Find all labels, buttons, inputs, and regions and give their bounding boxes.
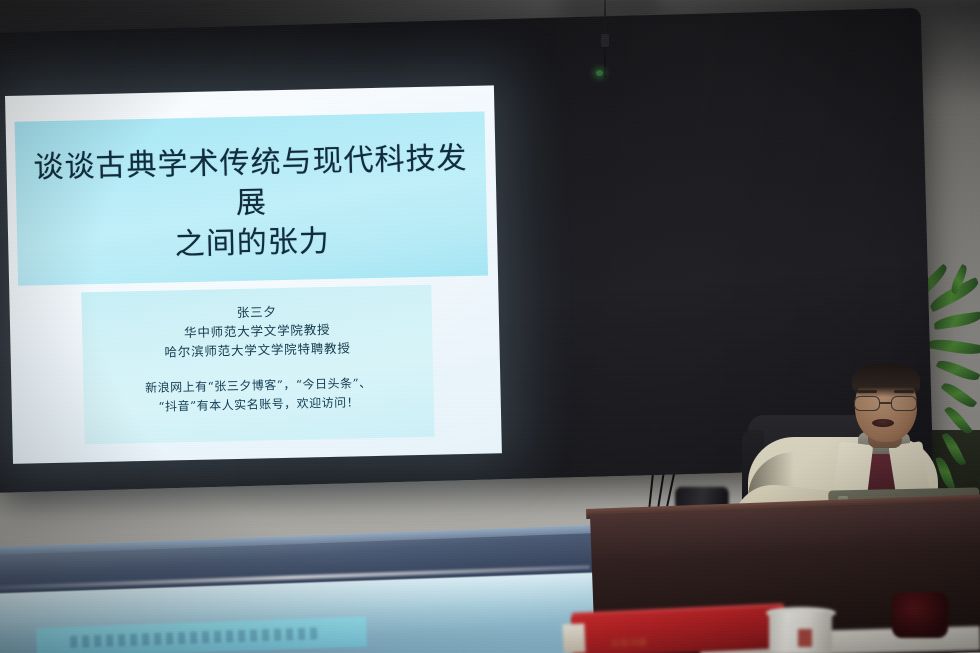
power-led-icon [596, 70, 603, 76]
projected-slide: 谈谈古典学术传统与现代科技发展 之间的张力 张三夕 华中师范大学文学院教授 哈尔… [5, 85, 502, 464]
screenshot-scene: 谈谈古典学术传统与现代科技发展 之间的张力 张三夕 华中师范大学文学院教授 哈尔… [0, 0, 980, 653]
slide-title-box: 谈谈古典学术传统与现代科技发展 之间的张力 [15, 112, 488, 286]
eyeglass-lens-left [854, 396, 880, 411]
red-book-pages [562, 624, 585, 653]
red-book-title: 红色书籍 [612, 637, 648, 649]
speaker-mouth [872, 419, 894, 427]
slide-title: 谈谈古典学术传统与现代科技发展 之间的张力 [20, 139, 483, 269]
foreground-cup-logo-icon [798, 629, 812, 647]
speaker-affiliation-2: 哈尔滨师范大学文学院特聘教授 [164, 339, 351, 362]
slide-title-line-1: 谈谈古典学术传统与现代科技发展 [20, 139, 482, 229]
dark-glass-object [892, 592, 948, 638]
speaker-brow-right [894, 390, 914, 393]
eyeglass-lens-right [891, 396, 917, 411]
slide-subtitle-box: 张三夕 华中师范大学文学院教授 哈尔滨师范大学文学院特聘教授 新浪网上有“张三夕… [81, 285, 434, 445]
speaker-brow-left [857, 390, 877, 393]
eyeglasses-icon [853, 396, 919, 411]
speaker-name: 张三夕 [237, 302, 277, 322]
cable-clip [601, 34, 609, 47]
